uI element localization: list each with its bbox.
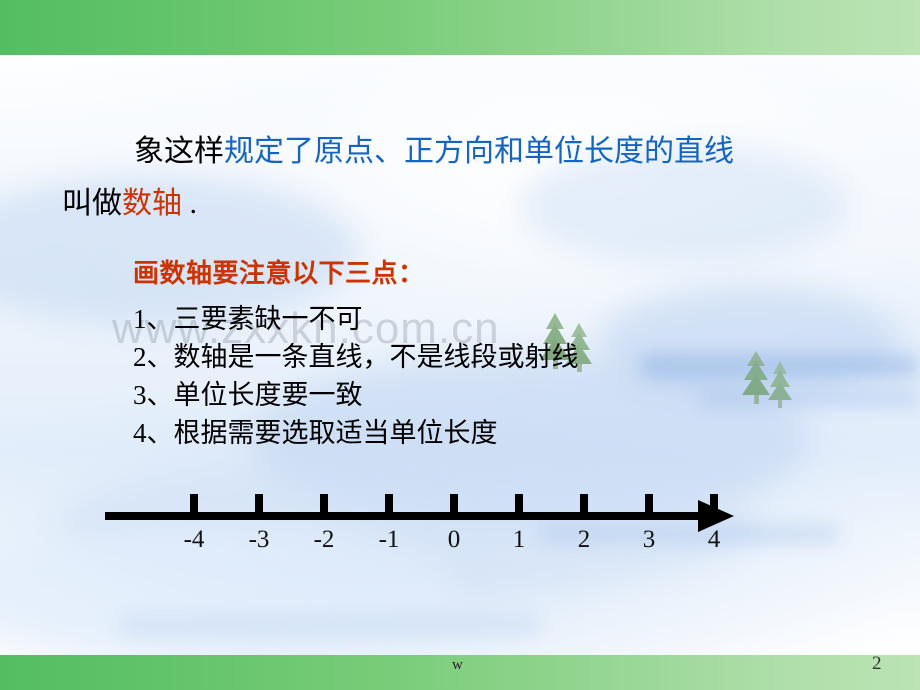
footer-mark: w [452, 657, 463, 674]
axis-tick [580, 494, 588, 514]
term-number-axis: 数轴 [122, 187, 182, 220]
axis-tick-label: -1 [369, 526, 409, 554]
paragraph-second-line-text: 叫做 [62, 187, 122, 220]
axis-tick-label: 3 [629, 526, 669, 554]
axis-tick [645, 494, 653, 514]
list-item: 3、单位长度要一致 [133, 376, 853, 414]
paragraph-lead-text: 象这样 [134, 135, 224, 168]
axis-tick [320, 494, 328, 514]
paragraph-period: . [182, 187, 197, 220]
axis-tick [450, 494, 458, 514]
axis-tick-label: -2 [304, 526, 344, 554]
definition-paragraph: 象这样规定了原点、正方向和单位长度的直线叫做数轴 . [62, 126, 862, 230]
axis-tick [710, 494, 718, 514]
page-number: 2 [872, 653, 882, 675]
points-list: 1、三要素缺一不可 2、数轴是一条直线，不是线段或射线 3、单位长度要一致 4、… [133, 300, 853, 452]
axis-tick [255, 494, 263, 514]
list-item: 4、根据需要选取适当单位长度 [133, 414, 853, 452]
axis-tick-label: -3 [239, 526, 279, 554]
axis-tick [515, 494, 523, 514]
number-line-diagram: -4 -3 -2 -1 0 1 2 3 4 [0, 470, 920, 570]
axis-tick-label: -4 [174, 526, 214, 554]
slide: www.zxxkn.com.cn 象这样规定了原点、正方向和单位长度的直线叫做数… [0, 0, 920, 690]
axis-tick-label: 1 [499, 526, 539, 554]
list-item: 1、三要素缺一不可 [133, 300, 853, 338]
axis-tick-label: 4 [694, 526, 734, 554]
paragraph-blue-text: 规定了原点、正方向和单位长度的直线 [224, 135, 734, 168]
header-green-band [0, 0, 920, 55]
axis-tick [190, 494, 198, 514]
axis-tick-label: 2 [564, 526, 604, 554]
haze-streak [120, 615, 540, 635]
subheading-three-points: 画数轴要注意以下三点： [133, 258, 425, 290]
list-item: 2、数轴是一条直线，不是线段或射线 [133, 338, 853, 376]
axis-tick [385, 494, 393, 514]
axis-tick-label: 0 [434, 526, 474, 554]
